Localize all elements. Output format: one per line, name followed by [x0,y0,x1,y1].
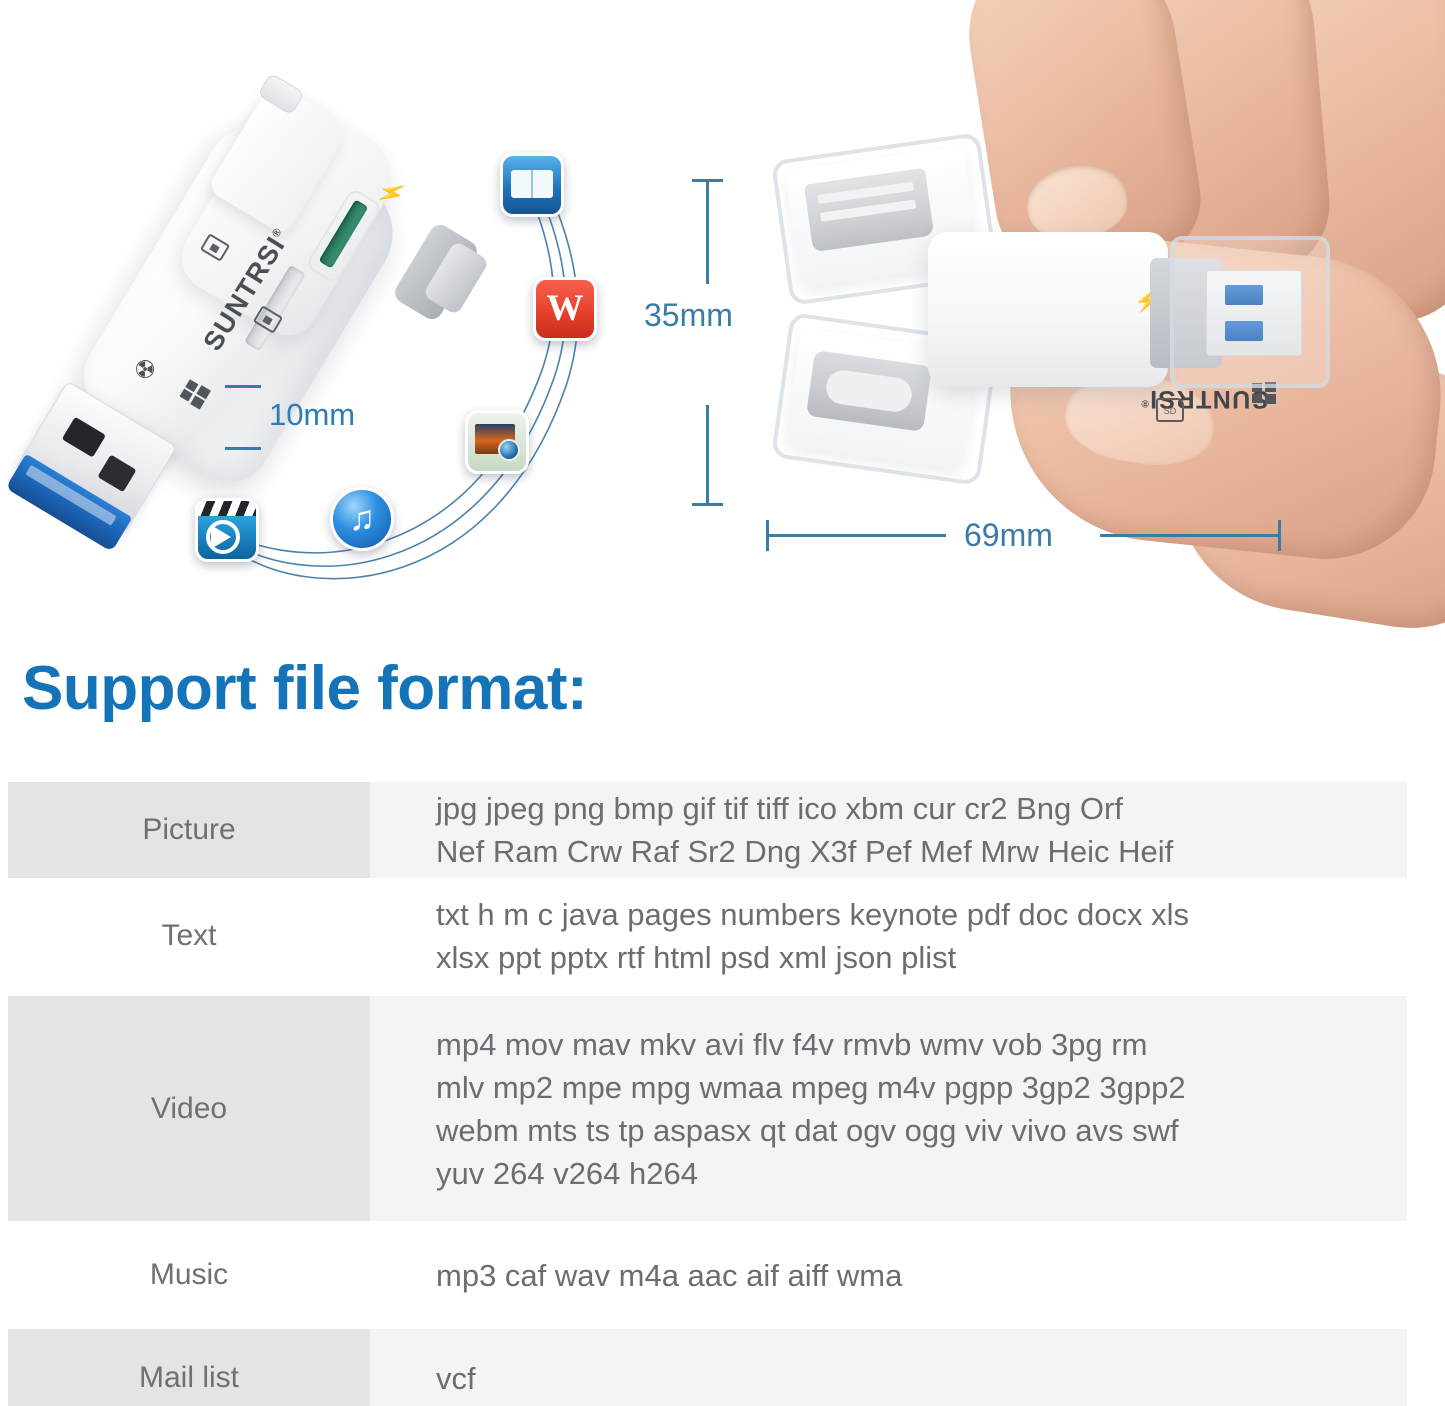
dimension-line-upper [706,179,709,284]
product-infographic-page: SUNTRSI® ☢ ⚡ 10mm [0,0,1445,1406]
row-values-music: mp3 caf wav m4a aac aif aiff wma [370,1225,1407,1325]
row-label-music: Music [8,1225,370,1325]
format-line: mlv mp2 mpe mpg wmaa mpeg m4v pgpp 3gp2 … [436,1066,1407,1109]
dimension-height-label: 35mm [644,297,733,334]
dimension-cap-bottom [692,503,723,506]
row-label-picture: Picture [8,782,370,878]
product-photo-band: SUNTRSI® ☢ ⚡ 10mm [0,0,1445,650]
row-values-video: mp4 mov mav mkv avi flv f4v rmvb wmv vob… [370,996,1407,1221]
photo-lens-shape [498,439,520,461]
row-label-video: Video [8,996,370,1221]
dimension-line-left [766,534,946,537]
format-line: yuv 264 v264 h264 [436,1152,1407,1195]
dimension-line-right [1100,534,1280,537]
dimension-height: 35mm [690,165,850,495]
table-row: Music mp3 caf wav m4a aac aif aiff wma [8,1225,1407,1325]
dimension-cap-right [1278,520,1281,551]
usb-port-hole-b [97,454,136,492]
row-values-mail-list: vcf [370,1329,1407,1406]
usb-clear-cap [1170,236,1330,388]
device-center-body: SUNTRSI® ⚡ TF SD ☢ [928,232,1168,387]
play-triangle-shape [211,525,231,549]
table-row: Video mp4 mov mav mkv avi flv f4v rmvb w… [8,996,1407,1221]
photo-viewer-app-icon [465,410,529,474]
clapperboard-stripes [198,501,256,516]
table-row: Mail list vcf [8,1329,1407,1406]
video-player-app-icon [195,498,259,562]
row-values-picture: jpg jpeg png bmp gif tif tiff ico xbm cu… [370,782,1407,878]
dimension-line-lower [706,405,709,505]
brand-trademark-mark-right: ® [1140,397,1149,408]
page-title: Support file format: [22,658,587,720]
format-line: webm mts ts tp aspasx qt dat ogv ogg viv… [436,1109,1407,1152]
row-label-mail-list: Mail list [8,1329,370,1406]
usb-port-hole-a [62,417,106,458]
sd-card-slot-icon-right: SD [1156,398,1184,422]
dimension-length: 69mm [760,500,1290,570]
format-line: mp4 mov mav mkv avi flv f4v rmvb wmv vob… [436,1023,1407,1066]
table-row: Text txt h m c java pages numbers keynot… [8,882,1407,990]
supported-formats-table: Picture jpg jpeg png bmp gif tif tiff ic… [8,782,1407,1406]
table-row: Picture jpg jpeg png bmp gif tif tiff ic… [8,782,1407,878]
ebook-reader-app-icon [500,153,564,217]
format-line: Nef Ram Crw Raf Sr2 Dng X3f Pef Mef Mrw … [436,830,1407,873]
music-player-app-icon: ♫ [330,487,394,551]
wps-office-app-icon: W [533,277,597,341]
format-line: xlsx ppt pptx rtf html psd xml json plis… [436,936,1407,979]
wps-glyph: W [536,280,594,338]
row-label-text: Text [8,882,370,990]
format-line: mp3 caf wav m4a aac aif aiff wma [436,1254,1407,1297]
format-line: jpg jpeg png bmp gif tif tiff ico xbm cu… [436,787,1407,830]
book-pages-shape [511,170,553,198]
format-line: txt h m c java pages numbers keynote pdf… [436,893,1407,936]
row-values-text: txt h m c java pages numbers keynote pdf… [370,882,1407,990]
format-line: vcf [436,1357,1407,1400]
dimension-length-label: 69mm [964,517,1053,554]
music-note-glyph: ♫ [333,490,391,548]
